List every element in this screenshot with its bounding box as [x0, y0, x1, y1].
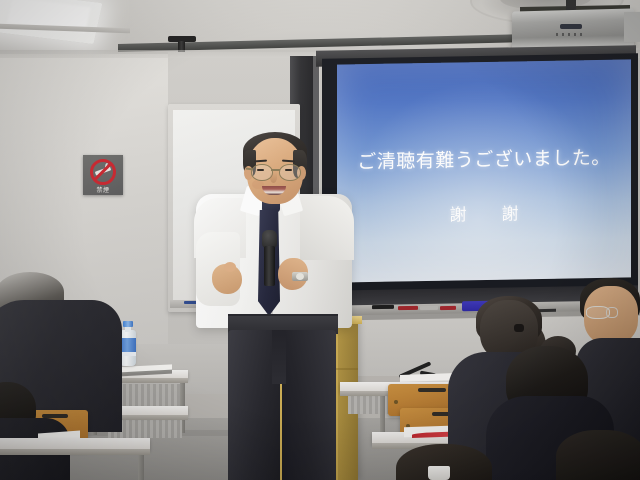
presenter-wristwatch-face [296, 273, 304, 280]
marker-red-2 [440, 306, 456, 310]
marker-red [398, 306, 418, 310]
chair-knob [394, 400, 398, 404]
audience-hair-tie [514, 324, 524, 332]
lecture-hall-photo: 禁煙 ご清聴有難うございました。 謝 謝 [0, 0, 640, 480]
water-bottle-cap [123, 321, 133, 327]
eyeglasses-bridge [271, 169, 280, 171]
no-smoking-label: 禁煙 [83, 185, 123, 194]
eyeglasses-lens-right [279, 164, 301, 181]
desk-leg [138, 455, 144, 480]
marker-white [420, 306, 438, 310]
paper-cup [428, 466, 450, 480]
presenter-trouser-seam [272, 330, 286, 384]
projector-side [624, 12, 640, 42]
audience-eyeglasses-lens-2 [606, 307, 618, 318]
projector-indicator-lights [556, 33, 586, 36]
audience-head-7 [556, 430, 640, 480]
desk-edge [0, 449, 150, 455]
slide-text-line-2: 謝 謝 [337, 197, 631, 227]
presenter-nose [270, 172, 277, 183]
slide-text-line-1: ご清聴有難うございました。 [337, 142, 631, 174]
projector-lens [560, 24, 582, 29]
marker-black [372, 305, 394, 309]
presenter-thumb-left [224, 262, 236, 272]
presenter-shoulder-right [300, 196, 354, 260]
presenter-leg-right [282, 330, 336, 480]
microphone-body [264, 246, 275, 286]
water-bottle-label-lower [120, 352, 136, 356]
chair-handle-slot [418, 388, 446, 392]
